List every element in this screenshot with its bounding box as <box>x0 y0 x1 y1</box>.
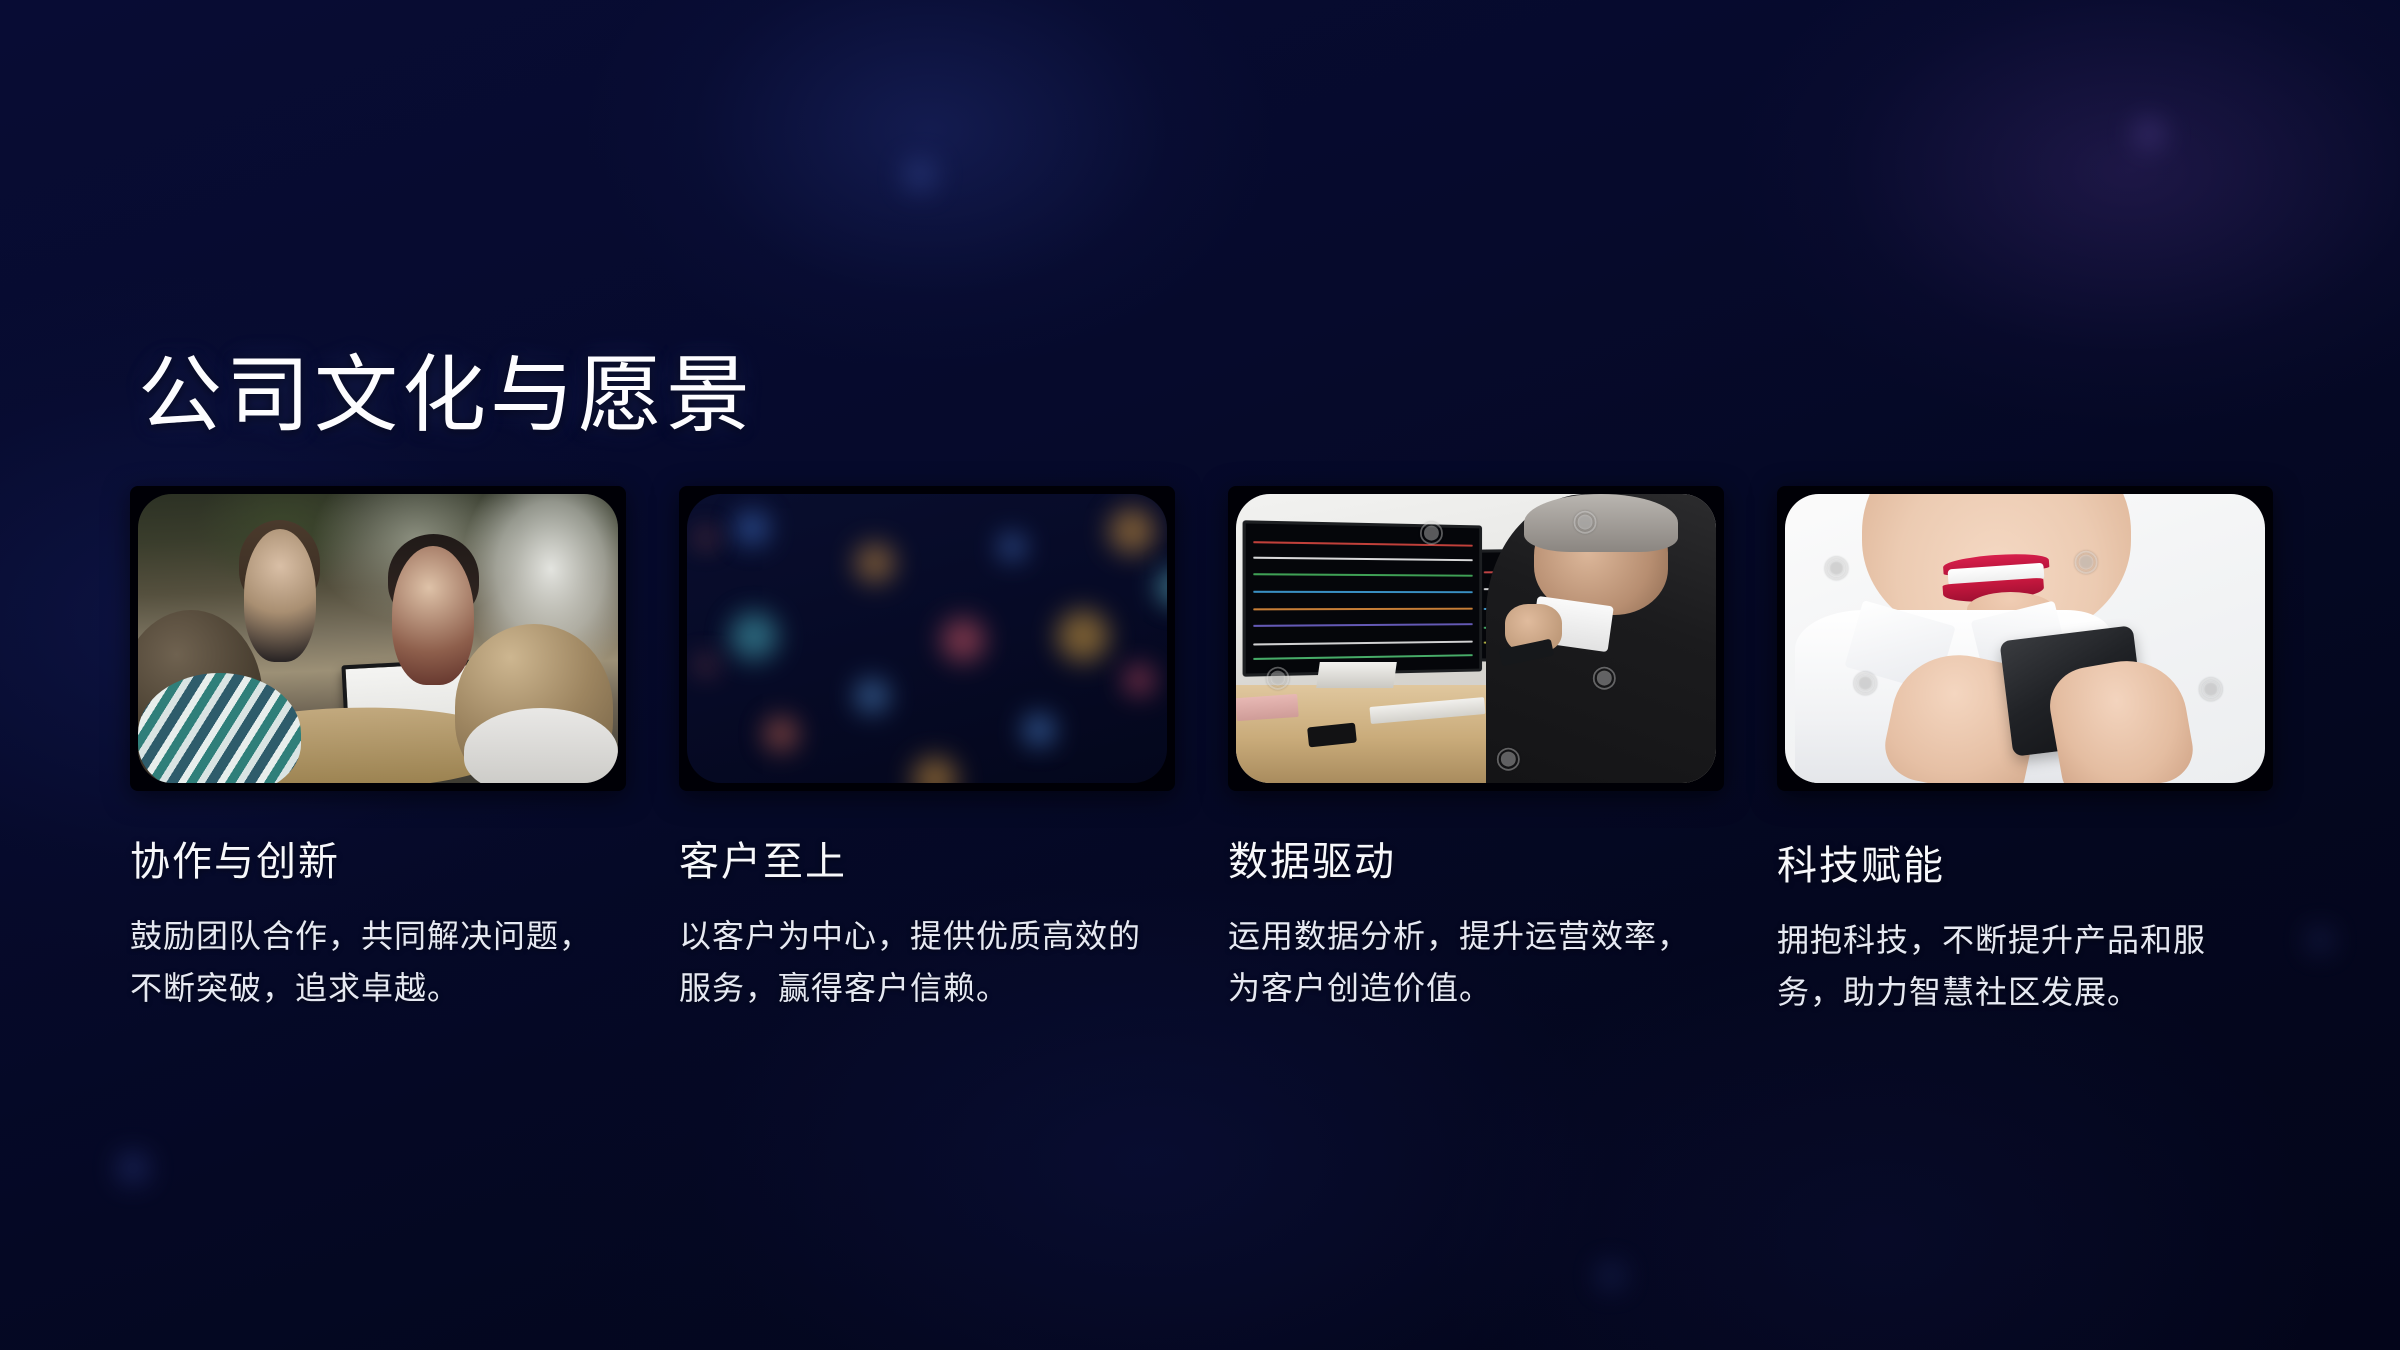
culture-card[interactable]: ◉ ◉ ◉ ◉ 科技赋能 拥抱科技，不断提升产品和服务，助力智慧社区发展。 <box>1777 486 2273 1019</box>
bokeh-dot <box>1124 665 1154 695</box>
bokeh-dot <box>855 543 895 583</box>
background-particle <box>2135 120 2163 148</box>
culture-card[interactable]: 协作与创新 鼓励团队合作，共同解决问题，不断突破，追求卓越。 <box>130 486 626 1019</box>
desk-pad <box>1236 694 1299 721</box>
watermark-icon: ◉ <box>1418 517 1444 547</box>
bokeh-dot <box>1157 569 1167 605</box>
bokeh-dot <box>999 534 1025 560</box>
watermark-icon: ◉ <box>1495 743 1521 773</box>
watermark-icon: ◉ <box>1823 552 1849 582</box>
trading-desk-illustration: ◉ ◉ ◉ ◉ ◉ <box>1236 494 1716 783</box>
culture-card-grid: 协作与创新 鼓励团队合作，共同解决问题，不断突破，追求卓越。 客户至上 以客户为… <box>130 486 2275 1019</box>
watermark-icon: ◉ <box>2198 673 2224 703</box>
bokeh-dot <box>764 717 798 751</box>
bokeh-dot <box>941 618 985 662</box>
person-figure <box>244 529 316 662</box>
bokeh-dot <box>730 612 778 660</box>
bokeh-dot <box>735 511 769 545</box>
bokeh-dot <box>697 529 715 547</box>
team-meeting-photo <box>138 494 618 783</box>
watermark-icon: ◉ <box>1572 506 1598 536</box>
bokeh-dot <box>1023 714 1055 746</box>
watermark-icon: ◉ <box>1591 662 1617 692</box>
background-particle <box>1600 1265 1622 1287</box>
analyst-hair <box>1524 494 1678 552</box>
bokeh-dot <box>913 757 957 783</box>
bokeh-dot <box>1057 610 1109 662</box>
bokeh-dot <box>1109 508 1155 554</box>
watermark-icon: ◉ <box>1265 662 1291 692</box>
person-figure <box>392 546 474 685</box>
card-image-frame <box>679 486 1175 791</box>
watermark-icon: ◉ <box>1852 667 1878 697</box>
card-description: 运用数据分析，提升运营效率，为客户创造价值。 <box>1228 911 1698 1015</box>
bokeh-lights-photo <box>687 494 1167 783</box>
card-image-frame: ◉ ◉ ◉ ◉ <box>1777 486 2273 791</box>
card-description: 鼓励团队合作，共同解决问题，不断突破，追求卓越。 <box>130 911 600 1015</box>
card-title: 客户至上 <box>679 837 1175 887</box>
slide-canvas: 公司文化与愿景 <box>0 0 2400 1350</box>
team-meeting-illustration <box>138 494 618 783</box>
primary-monitor <box>1242 520 1482 676</box>
background-particle <box>120 1155 146 1181</box>
data-analyst-photo: ◉ ◉ ◉ ◉ ◉ <box>1236 494 1716 783</box>
card-description: 拥抱科技，不断提升产品和服务，助力智慧社区发展。 <box>1777 915 2247 1019</box>
culture-card[interactable]: ◉ ◉ ◉ ◉ ◉ 数据驱动 运用数据分析，提升运营效率，为客户创造价值。 <box>1228 486 1724 1019</box>
card-image-frame: ◉ ◉ ◉ ◉ ◉ <box>1228 486 1724 791</box>
card-title: 协作与创新 <box>130 837 626 887</box>
bokeh-dot <box>855 679 889 713</box>
plaid-shirt <box>138 673 301 783</box>
bokeh-illustration <box>687 494 1167 783</box>
smartphone-user-photo: ◉ ◉ ◉ ◉ <box>1785 494 2265 783</box>
watermark-icon: ◉ <box>2073 546 2099 576</box>
page-title: 公司文化与愿景 <box>138 352 754 443</box>
background-particle <box>905 160 935 190</box>
culture-card[interactable]: 客户至上 以客户为中心，提供优质高效的服务，赢得客户信赖。 <box>679 486 1175 1019</box>
card-description: 以客户为中心，提供优质高效的服务，赢得客户信赖。 <box>679 911 1149 1015</box>
card-title: 科技赋能 <box>1777 841 2273 891</box>
card-title: 数据驱动 <box>1228 837 1724 887</box>
card-image-frame <box>130 486 626 791</box>
bokeh-dot <box>697 656 715 674</box>
monitor-stand <box>1316 662 1396 688</box>
background-particle <box>2310 930 2330 950</box>
smartphone-user-illustration: ◉ ◉ ◉ ◉ <box>1785 494 2265 783</box>
